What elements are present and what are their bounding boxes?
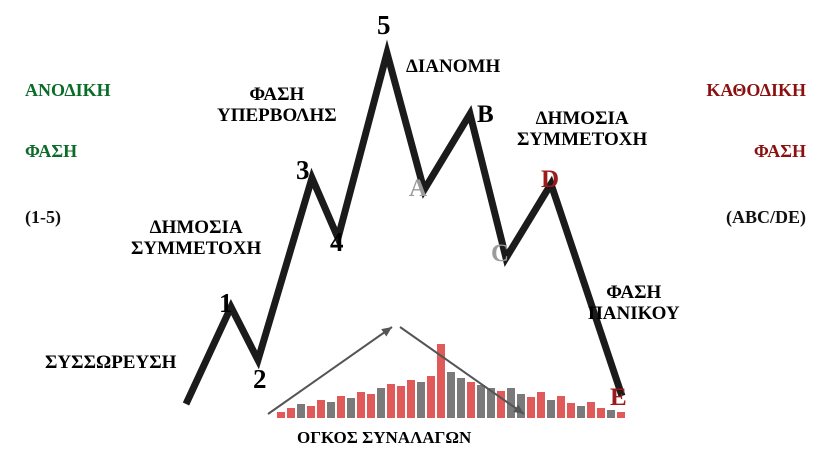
- phase-label-2-line-0: ΦΑΣΗ: [217, 84, 337, 105]
- phase-label-1: ΔΗΜΟΣΙΑΣΥΜΜΕΤΟΧΗ: [131, 217, 261, 260]
- phase-label-5-line-1: ΠΑΝΙΚΟΥ: [588, 303, 680, 324]
- wave-label-3: 3: [296, 155, 310, 185]
- wave-label-e: E: [610, 384, 627, 412]
- phase-label-0: ΣΥΣΣΩΡΕΥΣΗ: [45, 352, 176, 373]
- phase-label-2: ΦΑΣΗΥΠΕΡΒΟΛΗΣ: [217, 84, 337, 127]
- corner-label-bearish-line3: (ABC/DE): [706, 207, 806, 227]
- phase-label-3-line-0: ΔΙΑΝΟΜΗ: [406, 56, 500, 77]
- phase-label-5: ΦΑΣΗΠΑΝΙΚΟΥ: [588, 282, 680, 325]
- phase-label-4-line-1: ΣΥΜΜΕΤΟΧΗ: [517, 129, 647, 150]
- corner-label-bullish-line1: ΑΝΟΔΙΚΗ: [25, 80, 111, 100]
- phase-label-2-line-1: ΥΠΕΡΒΟΛΗΣ: [217, 105, 337, 126]
- wave-label-2: 2: [253, 364, 267, 394]
- corner-label-bearish: ΚΑΘΟΔΙΚΗ ΦΑΣΗ (ABC/DE): [706, 40, 806, 268]
- corner-label-bearish-line1: ΚΑΘΟΔΙΚΗ: [706, 80, 806, 100]
- phase-label-1-line-0: ΔΗΜΟΣΙΑ: [131, 217, 261, 238]
- phase-label-3: ΔΙΑΝΟΜΗ: [406, 56, 500, 77]
- phase-label-5-line-0: ΦΑΣΗ: [588, 282, 680, 303]
- phase-label-0-line-0: ΣΥΣΣΩΡΕΥΣΗ: [45, 352, 176, 373]
- wave-label-b: B: [477, 101, 494, 129]
- wave-label-a: A: [409, 175, 427, 203]
- wave-label-5: 5: [377, 10, 391, 40]
- elliott-wave-diagram: ΑΝΟΔΙΚΗ ΦΑΣΗ (1-5) ΚΑΘΟΔΙΚΗ ΦΑΣΗ (ABC/DE…: [0, 0, 828, 476]
- phase-label-4-line-0: ΔΗΜΟΣΙΑ: [517, 108, 647, 129]
- phase-label-1-line-1: ΣΥΜΜΕΤΟΧΗ: [131, 238, 261, 259]
- wave-label-4: 4: [330, 227, 344, 257]
- volume-caption: ΟΓΚΟΣ ΣΥΝΑΛΑΓΩΝ: [297, 428, 471, 447]
- corner-label-bullish-line2: ΦΑΣΗ: [25, 141, 111, 161]
- phase-label-4: ΔΗΜΟΣΙΑΣΥΜΜΕΤΟΧΗ: [517, 108, 647, 151]
- corner-label-bullish: ΑΝΟΔΙΚΗ ΦΑΣΗ (1-5): [25, 40, 111, 268]
- wave-label-c: C: [491, 240, 509, 268]
- wave-label-1: 1: [219, 288, 233, 318]
- corner-label-bullish-line3: (1-5): [25, 207, 111, 227]
- corner-label-bearish-line2: ΦΑΣΗ: [706, 141, 806, 161]
- wave-label-d: D: [541, 166, 559, 194]
